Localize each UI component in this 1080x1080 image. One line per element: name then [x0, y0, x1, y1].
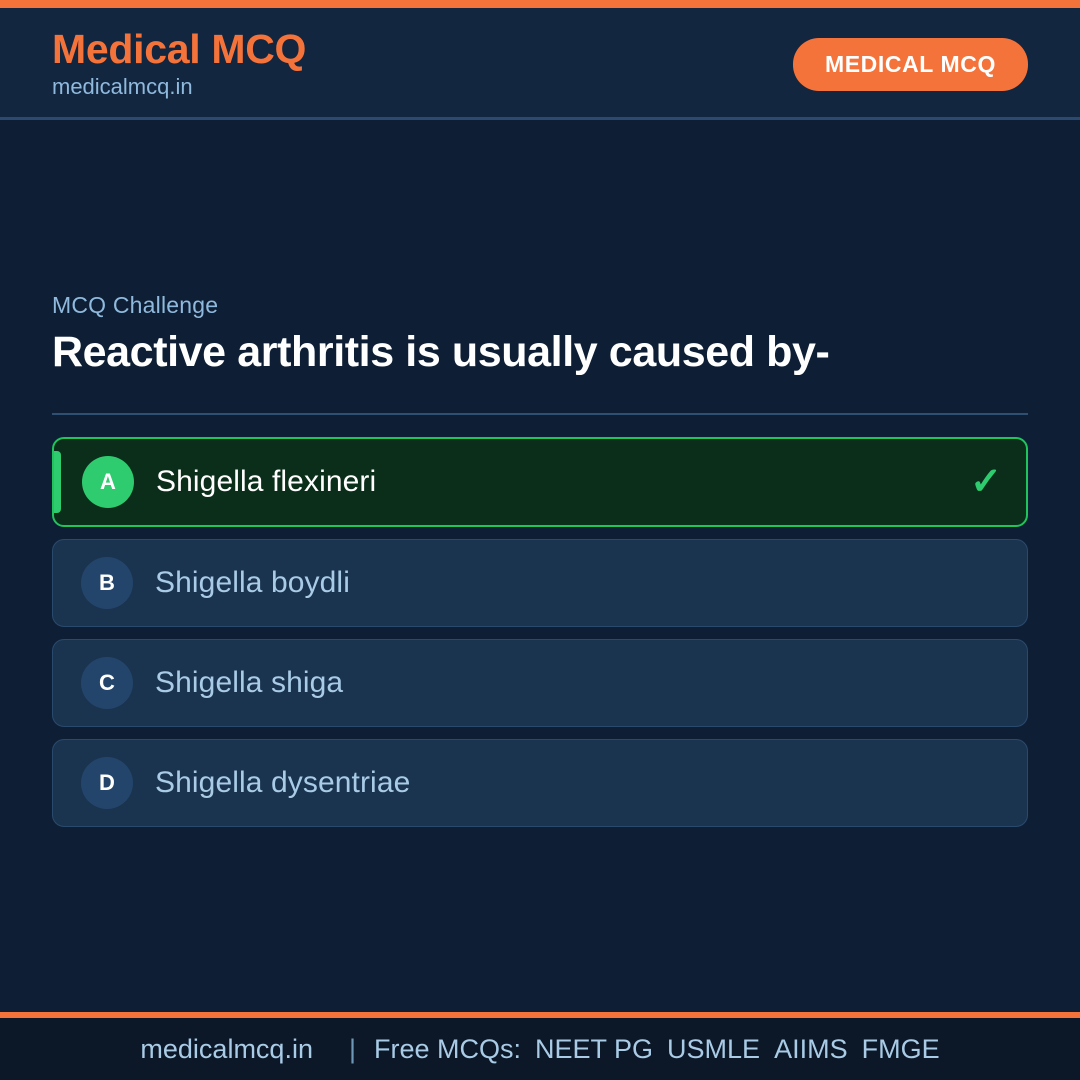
option-d[interactable]: DShigella dysentriae — [52, 739, 1028, 827]
footer-exam-usmle[interactable]: USMLE — [667, 1034, 760, 1064]
eyebrow-label: MCQ Challenge — [52, 292, 1028, 319]
footer-content: medicalmcq.in | Free MCQs: NEET PGUSMLEA… — [140, 1034, 939, 1065]
option-letter-badge: A — [82, 456, 134, 508]
main-content: MCQ Challenge Reactive arthritis is usua… — [0, 120, 1080, 1012]
section-divider — [52, 413, 1028, 415]
header-badge: MEDICAL MCQ — [793, 38, 1028, 91]
brand: Medical MCQ medicalmcq.in — [52, 28, 306, 100]
footer-label: Free MCQs: — [374, 1034, 521, 1065]
page-footer: medicalmcq.in | Free MCQs: NEET PGUSMLEA… — [0, 1012, 1080, 1080]
brand-title: Medical MCQ — [52, 28, 306, 71]
brand-subtitle: medicalmcq.in — [52, 73, 306, 101]
page-header: Medical MCQ medicalmcq.in MEDICAL MCQ — [0, 8, 1080, 120]
option-a[interactable]: AShigella flexineri✓ — [52, 437, 1028, 527]
footer-exam-list: NEET PGUSMLEAIIMSFMGE — [535, 1034, 940, 1065]
option-label: Shigella flexineri — [156, 465, 376, 499]
option-label: Shigella boydli — [155, 566, 350, 600]
option-label: Shigella dysentriae — [155, 766, 410, 800]
option-letter-badge: D — [81, 757, 133, 809]
option-letter-badge: C — [81, 657, 133, 709]
footer-site-link[interactable]: medicalmcq.in — [140, 1034, 313, 1065]
correct-accent-bar — [54, 451, 61, 513]
option-letter-badge: B — [81, 557, 133, 609]
footer-exam-neet-pg[interactable]: NEET PG — [535, 1034, 653, 1064]
option-label: Shigella shiga — [155, 666, 343, 700]
top-accent-bar — [0, 0, 1080, 8]
footer-separator: | — [349, 1034, 356, 1065]
check-icon: ✓ — [970, 463, 1002, 501]
question-text: Reactive arthritis is usually caused by- — [52, 327, 912, 379]
mcq-card: Medical MCQ medicalmcq.in MEDICAL MCQ MC… — [0, 0, 1080, 1080]
option-b[interactable]: BShigella boydli — [52, 539, 1028, 627]
options-list: AShigella flexineri✓BShigella boydliCShi… — [52, 437, 1028, 827]
option-c[interactable]: CShigella shiga — [52, 639, 1028, 727]
footer-exam-aiims[interactable]: AIIMS — [774, 1034, 848, 1064]
footer-exam-fmge[interactable]: FMGE — [862, 1034, 940, 1064]
